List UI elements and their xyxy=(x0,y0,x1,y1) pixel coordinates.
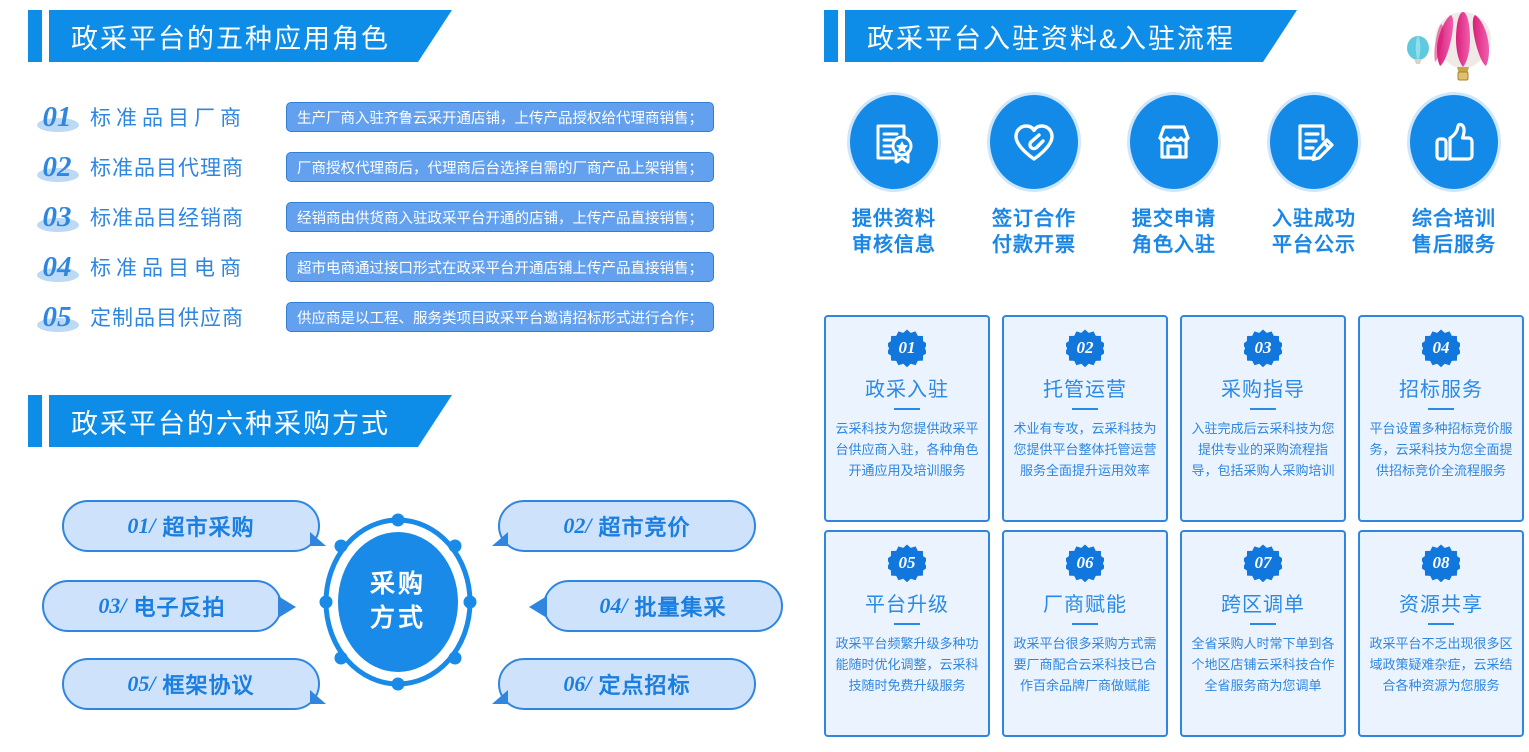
role-number-badge: 04 xyxy=(28,251,86,284)
list-item: 01 标准品目厂商 生产厂商入驻齐鲁云采开通店铺，上传产品授权给代理商销售； xyxy=(28,92,788,142)
role-description: 经销商由供货商入驻政采平台开通的店铺，上传产品直接销售； xyxy=(286,202,714,232)
card-divider xyxy=(1072,623,1098,625)
role-description: 供应商是以工程、服务类项目政采平台邀请招标形式进行合作； xyxy=(286,302,714,332)
role-description: 超市电商通过接口形式在政采平台开通店铺上传产品直接销售； xyxy=(286,252,714,282)
roles-list: 01 标准品目厂商 生产厂商入驻齐鲁云采开通店铺，上传产品授权给代理商销售； 0… xyxy=(28,92,788,342)
flow-step-4[interactable]: 入驻成功 平台公示 xyxy=(1244,92,1384,259)
flow-step-1[interactable]: 提供资料 审核信息 xyxy=(824,92,964,259)
page-title-methods: 政采平台的六种采购方式 xyxy=(71,402,390,441)
caption-line2: 付款开票 xyxy=(992,232,1076,258)
flow-step-caption: 综合培训 售后服务 xyxy=(1412,206,1496,259)
header-body: 政采平台入驻资料&入驻流程 xyxy=(845,10,1297,62)
roles-section-header: 政采平台的五种应用角色 xyxy=(28,10,452,62)
flow-step-3[interactable]: 提交申请 角色入驻 xyxy=(1104,92,1244,259)
method-label: 批量集采 xyxy=(635,590,727,622)
card-number-badge: 07 xyxy=(1244,544,1282,582)
method-number: 05/ xyxy=(127,671,155,697)
flow-step-caption: 提交申请 角色入驻 xyxy=(1132,206,1216,259)
card-number-badge: 03 xyxy=(1244,329,1282,367)
flow-step-caption: 签订合作 付款开票 xyxy=(992,206,1076,259)
methods-section-header: 政采平台的六种采购方式 xyxy=(28,395,452,447)
service-card-02[interactable]: 02 托管运营 术业有专攻，云采科技为您提供平台整体托管运营服务全面提升运用效率 xyxy=(1002,315,1168,522)
role-description: 厂商授权代理商后，代理商后台选择自需的厂商产品上架销售； xyxy=(286,152,714,182)
role-name: 定制品目供应商 xyxy=(90,302,286,332)
card-title: 政采入驻 xyxy=(865,373,949,402)
service-card-07[interactable]: 07 跨区调单 全省采购人时常下单到各个地区店铺云采科技合作全省服务商为您调单 xyxy=(1180,530,1346,737)
page-title-onboarding: 政采平台入驻资料&入驻流程 xyxy=(867,17,1235,56)
role-number: 01 xyxy=(43,101,72,133)
card-title: 厂商赋能 xyxy=(1043,588,1127,617)
card-description: 术业有专攻，云采科技为您提供平台整体托管运营服务全面提升运用效率 xyxy=(1012,418,1158,481)
method-number: 03/ xyxy=(98,593,126,619)
onboarding-flow-steps: 提供资料 审核信息 签订合作 付款开票 xyxy=(824,92,1524,259)
handshake-heart-icon xyxy=(987,92,1081,192)
header-accent-bar xyxy=(28,10,42,62)
card-number-badge: 08 xyxy=(1422,544,1460,582)
role-number: 05 xyxy=(43,301,72,333)
caption-line2: 售后服务 xyxy=(1412,232,1496,258)
onboarding-panel: 政采平台入驻资料&入驻流程 xyxy=(818,0,1529,752)
role-name: 标准品目代理商 xyxy=(90,152,286,182)
card-number: 08 xyxy=(1422,544,1460,582)
card-description: 政采平台很多采购方式需要厂商配合云采科技已合作百余品牌厂商做赋能 xyxy=(1012,633,1158,696)
service-card-06[interactable]: 06 厂商赋能 政采平台很多采购方式需要厂商配合云采科技已合作百余品牌厂商做赋能 xyxy=(1002,530,1168,737)
method-pill-06[interactable]: 06/ 定点招标 xyxy=(498,658,756,710)
method-pill-03[interactable]: 03/ 电子反拍 xyxy=(42,580,282,632)
card-number: 02 xyxy=(1066,329,1104,367)
role-name: 标准品目经销商 xyxy=(90,202,286,232)
service-cards-grid: 01 政采入驻 云采科技为您提供政采平台供应商入驻，各种角色开通应用及培训服务 … xyxy=(824,315,1524,737)
caption-line1: 综合培训 xyxy=(1412,206,1496,232)
service-card-05[interactable]: 05 平台升级 政采平台频繁升级多种功能随时优化调整，云采科技随时免费升级服务 xyxy=(824,530,990,737)
role-name: 标准品目电商 xyxy=(90,252,286,282)
card-number: 04 xyxy=(1422,329,1460,367)
method-label: 超市采购 xyxy=(163,510,255,542)
flow-step-5[interactable]: 综合培训 售后服务 xyxy=(1384,92,1524,259)
method-label: 定点招标 xyxy=(599,668,691,700)
storefront-icon xyxy=(1127,92,1221,192)
card-divider xyxy=(1250,408,1276,410)
header-gap xyxy=(42,395,49,447)
thumbs-up-icon xyxy=(1407,92,1501,192)
hub-label-line1: 采购 xyxy=(370,568,426,602)
flow-step-caption: 提供资料 审核信息 xyxy=(852,206,936,259)
card-divider xyxy=(1072,408,1098,410)
card-divider xyxy=(1428,623,1454,625)
hub-label-line2: 方式 xyxy=(370,602,426,636)
header-accent-bar xyxy=(28,395,42,447)
header-body: 政采平台的五种应用角色 xyxy=(49,10,452,62)
flow-step-2[interactable]: 签订合作 付款开票 xyxy=(964,92,1104,259)
flow-step-caption: 入驻成功 平台公示 xyxy=(1272,206,1356,259)
list-item: 04 标准品目电商 超市电商通过接口形式在政采平台开通店铺上传产品直接销售； xyxy=(28,242,788,292)
infographic-page: 政采平台的五种应用角色 01 标准品目厂商 生产厂商入驻齐鲁云采开通店铺，上传产… xyxy=(0,0,1529,752)
card-number-badge: 05 xyxy=(888,544,926,582)
header-body: 政采平台的六种采购方式 xyxy=(49,395,452,447)
method-number: 04/ xyxy=(599,593,627,619)
procurement-hub: 采购 方式 xyxy=(318,512,478,692)
header-accent-bar xyxy=(824,10,838,62)
card-title: 托管运营 xyxy=(1043,373,1127,402)
method-label: 框架协议 xyxy=(163,668,255,700)
role-number: 04 xyxy=(43,251,72,283)
card-description: 入驻完成后云采科技为您提供专业的采购流程指导，包括采购人采购培训 xyxy=(1190,418,1336,481)
method-number: 02/ xyxy=(563,513,591,539)
card-number-badge: 02 xyxy=(1066,329,1104,367)
list-item: 05 定制品目供应商 供应商是以工程、服务类项目政采平台邀请招标形式进行合作； xyxy=(28,292,788,342)
role-number-badge: 03 xyxy=(28,201,86,234)
document-edit-icon xyxy=(1267,92,1361,192)
role-number-badge: 02 xyxy=(28,151,86,184)
card-description: 云采科技为您提供政采平台供应商入驻，各种角色开通应用及培训服务 xyxy=(834,418,980,481)
card-number: 01 xyxy=(888,329,926,367)
card-title: 跨区调单 xyxy=(1221,588,1305,617)
caption-line1: 签订合作 xyxy=(992,206,1076,232)
caption-line2: 平台公示 xyxy=(1272,232,1356,258)
certificate-icon xyxy=(847,92,941,192)
card-title: 平台升级 xyxy=(865,588,949,617)
card-description: 政采平台频繁升级多种功能随时优化调整，云采科技随时免费升级服务 xyxy=(834,633,980,696)
caption-line2: 角色入驻 xyxy=(1132,232,1216,258)
header-gap xyxy=(42,10,49,62)
role-number-badge: 01 xyxy=(28,101,86,134)
card-number-badge: 04 xyxy=(1422,329,1460,367)
list-item: 02 标准品目代理商 厂商授权代理商后，代理商后台选择自需的厂商产品上架销售； xyxy=(28,142,788,192)
service-card-03[interactable]: 03 采购指导 入驻完成后云采科技为您提供专业的采购流程指导，包括采购人采购培训 xyxy=(1180,315,1346,522)
method-number: 01/ xyxy=(127,513,155,539)
card-description: 平台设置多种招标竞价服务，云采科技为您全面提供招标竞价全流程服务 xyxy=(1368,418,1514,481)
service-card-01[interactable]: 01 政采入驻 云采科技为您提供政采平台供应商入驻，各种角色开通应用及培训服务 xyxy=(824,315,990,522)
hot-air-balloon-icon xyxy=(1401,4,1511,82)
role-description: 生产厂商入驻齐鲁云采开通店铺，上传产品授权给代理商销售； xyxy=(286,102,714,132)
card-divider xyxy=(1250,623,1276,625)
card-number: 07 xyxy=(1244,544,1282,582)
onboarding-section-header: 政采平台入驻资料&入驻流程 xyxy=(824,10,1297,62)
method-pill-01[interactable]: 01/ 超市采购 xyxy=(62,500,320,552)
caption-line2: 审核信息 xyxy=(852,232,936,258)
card-number: 06 xyxy=(1066,544,1104,582)
caption-line1: 提交申请 xyxy=(1132,206,1216,232)
method-pill-05[interactable]: 05/ 框架协议 xyxy=(62,658,320,710)
role-number-badge: 05 xyxy=(28,301,86,334)
page-title-roles: 政采平台的五种应用角色 xyxy=(71,17,390,56)
card-description: 全省采购人时常下单到各个地区店铺云采科技合作全省服务商为您调单 xyxy=(1190,633,1336,696)
method-label: 超市竞价 xyxy=(599,510,691,542)
card-description: 政采平台不乏出现很多区域政策疑难杂症，云采结合各种资源为您服务 xyxy=(1368,633,1514,696)
card-title: 招标服务 xyxy=(1399,373,1483,402)
card-number-badge: 01 xyxy=(888,329,926,367)
header-gap xyxy=(838,10,845,62)
card-divider xyxy=(894,408,920,410)
procurement-methods-diagram: 01/ 超市采购 02/ 超市竞价 03/ 电子反拍 04/ 批量集采 05/ … xyxy=(0,470,790,730)
caption-line1: 入驻成功 xyxy=(1272,206,1356,232)
caption-line1: 提供资料 xyxy=(852,206,936,232)
card-divider xyxy=(894,623,920,625)
method-number: 06/ xyxy=(563,671,591,697)
card-title: 采购指导 xyxy=(1221,373,1305,402)
card-number: 05 xyxy=(888,544,926,582)
method-pill-04[interactable]: 04/ 批量集采 xyxy=(543,580,783,632)
role-number: 02 xyxy=(43,151,72,183)
list-item: 03 标准品目经销商 经销商由供货商入驻政采平台开通的店铺，上传产品直接销售； xyxy=(28,192,788,242)
method-pill-02[interactable]: 02/ 超市竞价 xyxy=(498,500,756,552)
card-title: 资源共享 xyxy=(1399,588,1483,617)
role-name: 标准品目厂商 xyxy=(90,102,286,132)
card-number: 03 xyxy=(1244,329,1282,367)
service-card-04[interactable]: 04 招标服务 平台设置多种招标竞价服务，云采科技为您全面提供招标竞价全流程服务 xyxy=(1358,315,1524,522)
role-number: 03 xyxy=(43,201,72,233)
card-divider xyxy=(1428,408,1454,410)
method-label: 电子反拍 xyxy=(134,590,226,622)
service-card-08[interactable]: 08 资源共享 政采平台不乏出现很多区域政策疑难杂症，云采结合各种资源为您服务 xyxy=(1358,530,1524,737)
card-number-badge: 06 xyxy=(1066,544,1104,582)
